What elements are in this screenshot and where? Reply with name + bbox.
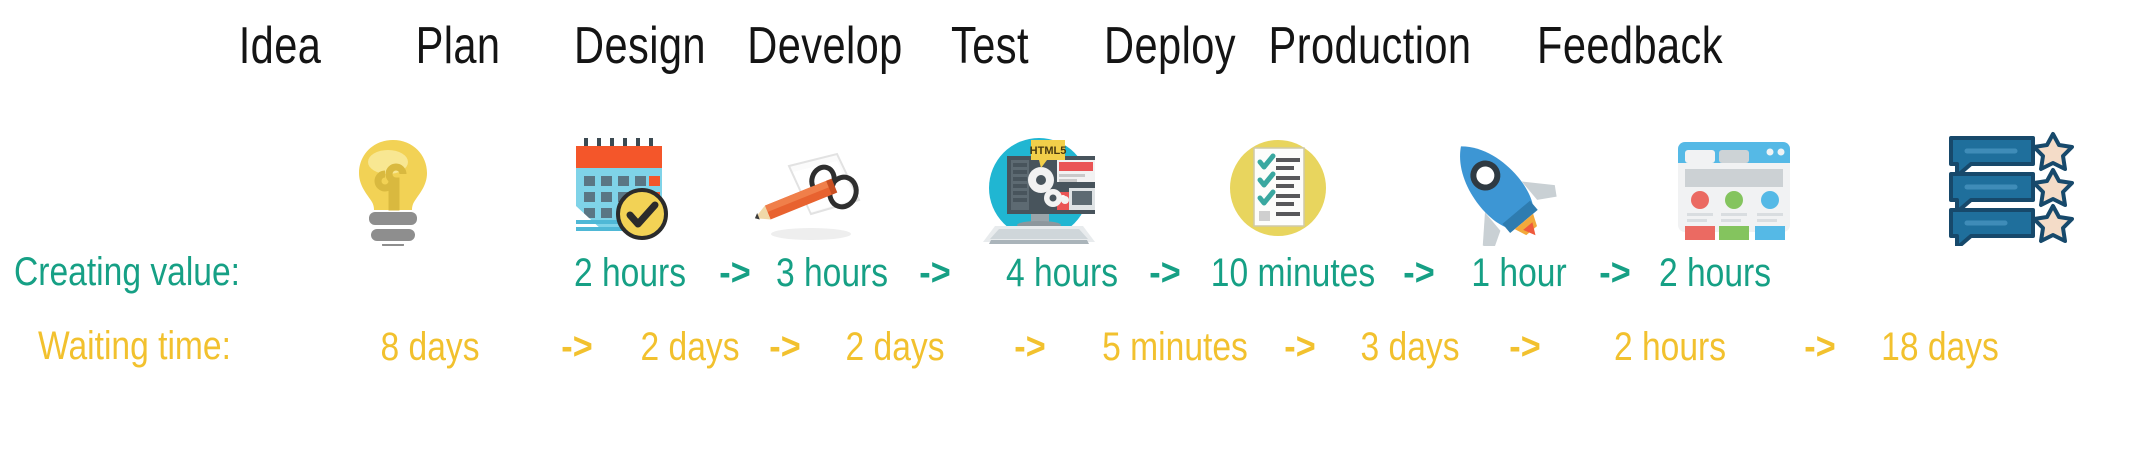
lightbulb-icon [333,128,453,246]
browser-window-icon [1670,128,1798,246]
waiting-time-deploy: 2 hours [1590,324,1750,370]
creating-value-arrow-2: -> [904,250,967,296]
checklist-icon [1218,128,1338,246]
creating-value-arrow-4: -> [1388,250,1451,296]
waiting-time-develop: 5 minutes [1078,324,1271,370]
waiting-time-idea: 8 days [354,324,505,370]
chat-star-icon [1945,128,2077,246]
waiting-time-production: 18 days [1856,324,2024,370]
waiting-time-arrow-1: -> [546,324,609,370]
stage-header-idea: Idea [216,14,344,78]
creating-value-test: 10 minutes [1196,250,1389,296]
stage-header-feedback: Feedback [1526,14,1734,78]
creating-value-production: 2 hours [1635,250,1795,296]
stage-header-test: Test [918,14,1062,78]
desktop-code-icon: HTML5 [965,128,1113,246]
stage-header-plan: Plan [394,14,522,78]
waiting-time-test: 3 days [1334,324,1485,370]
waiting-time-arrow-2: -> [754,324,817,370]
waiting-time-arrow-3: -> [999,324,1062,370]
waiting-time-arrow-4: -> [1269,324,1332,370]
creating-value-develop: 4 hours [986,250,1137,296]
stage-header-design: Design [560,14,720,78]
stage-header-develop: Develop [733,14,917,78]
creating-value-label: Creating value: [14,250,240,295]
rocket-icon [1428,128,1563,246]
waiting-time-arrow-5: -> [1494,324,1557,370]
stage-header-production: Production [1258,14,1482,78]
creating-value-plan: 2 hours [554,250,705,296]
calendar-check-icon [558,128,678,246]
value-stream-map: Idea Plan Design Develop Test Deploy Pro… [0,0,2152,464]
creating-value-design: 3 hours [756,250,907,296]
waiting-time-plan: 2 days [614,324,765,370]
pencil-paper-icon [745,128,865,246]
waiting-time-arrow-6: -> [1789,324,1852,370]
svg-text:HTML5: HTML5 [1030,145,1067,157]
waiting-time-design: 2 days [819,324,970,370]
creating-value-arrow-3: -> [1134,250,1197,296]
stage-header-deploy: Deploy [1082,14,1258,78]
waiting-time-label: Waiting time: [38,324,231,369]
creating-value-deploy: 1 hour [1448,250,1591,296]
